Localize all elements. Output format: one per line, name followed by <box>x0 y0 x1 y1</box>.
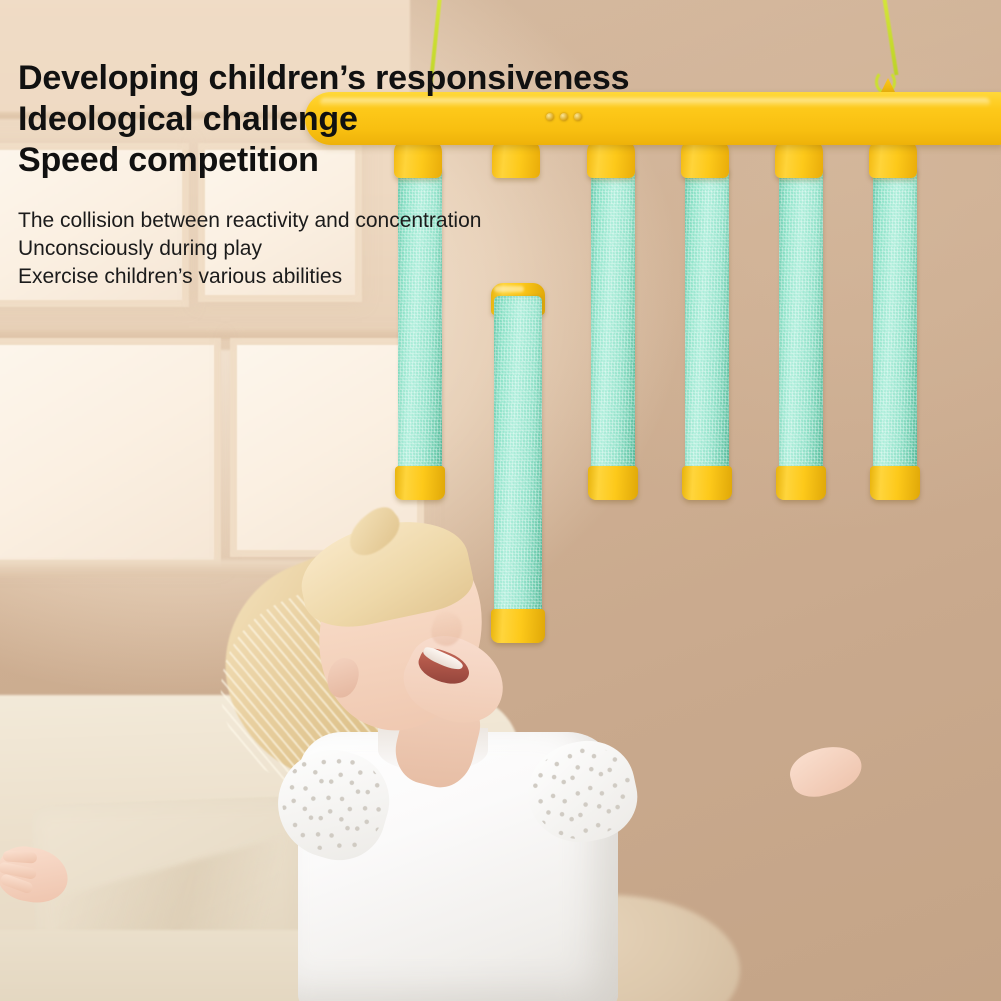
stick-foam-tube <box>873 168 917 498</box>
stick-cap-bottom <box>395 466 445 500</box>
stick-foam-tube <box>494 296 542 641</box>
stick-cap-bottom <box>870 466 920 500</box>
stick-cap-bottom <box>682 466 732 500</box>
hanging-stick-5[interactable] <box>779 168 823 498</box>
subline-3: Exercise children’s various abilities <box>18 263 658 291</box>
headline-line-3: Speed competition <box>18 140 658 181</box>
stick-cap-bottom <box>588 466 638 500</box>
subline-2: Unconsciously during play <box>18 235 658 263</box>
hanging-stick-4[interactable] <box>685 168 729 498</box>
promo-image: Developing children’s responsiveness Ide… <box>0 0 1001 1001</box>
marketing-copy: Developing children’s responsiveness Ide… <box>18 58 658 291</box>
stick-foam-tube <box>685 168 729 498</box>
headline-line-1: Developing children’s responsiveness <box>18 58 658 99</box>
headline-line-2: Ideological challenge <box>18 99 658 140</box>
wall-seam-lower <box>0 330 420 339</box>
subline-1: The collision between reactivity and con… <box>18 207 658 235</box>
stick-cap-bottom <box>491 609 545 643</box>
subheadline-block: The collision between reactivity and con… <box>18 207 658 291</box>
falling-stick[interactable] <box>494 296 542 641</box>
stick-cap-bottom <box>776 466 826 500</box>
stick-foam-tube <box>779 168 823 498</box>
hanging-stick-6[interactable] <box>873 168 917 498</box>
finger <box>3 850 38 863</box>
